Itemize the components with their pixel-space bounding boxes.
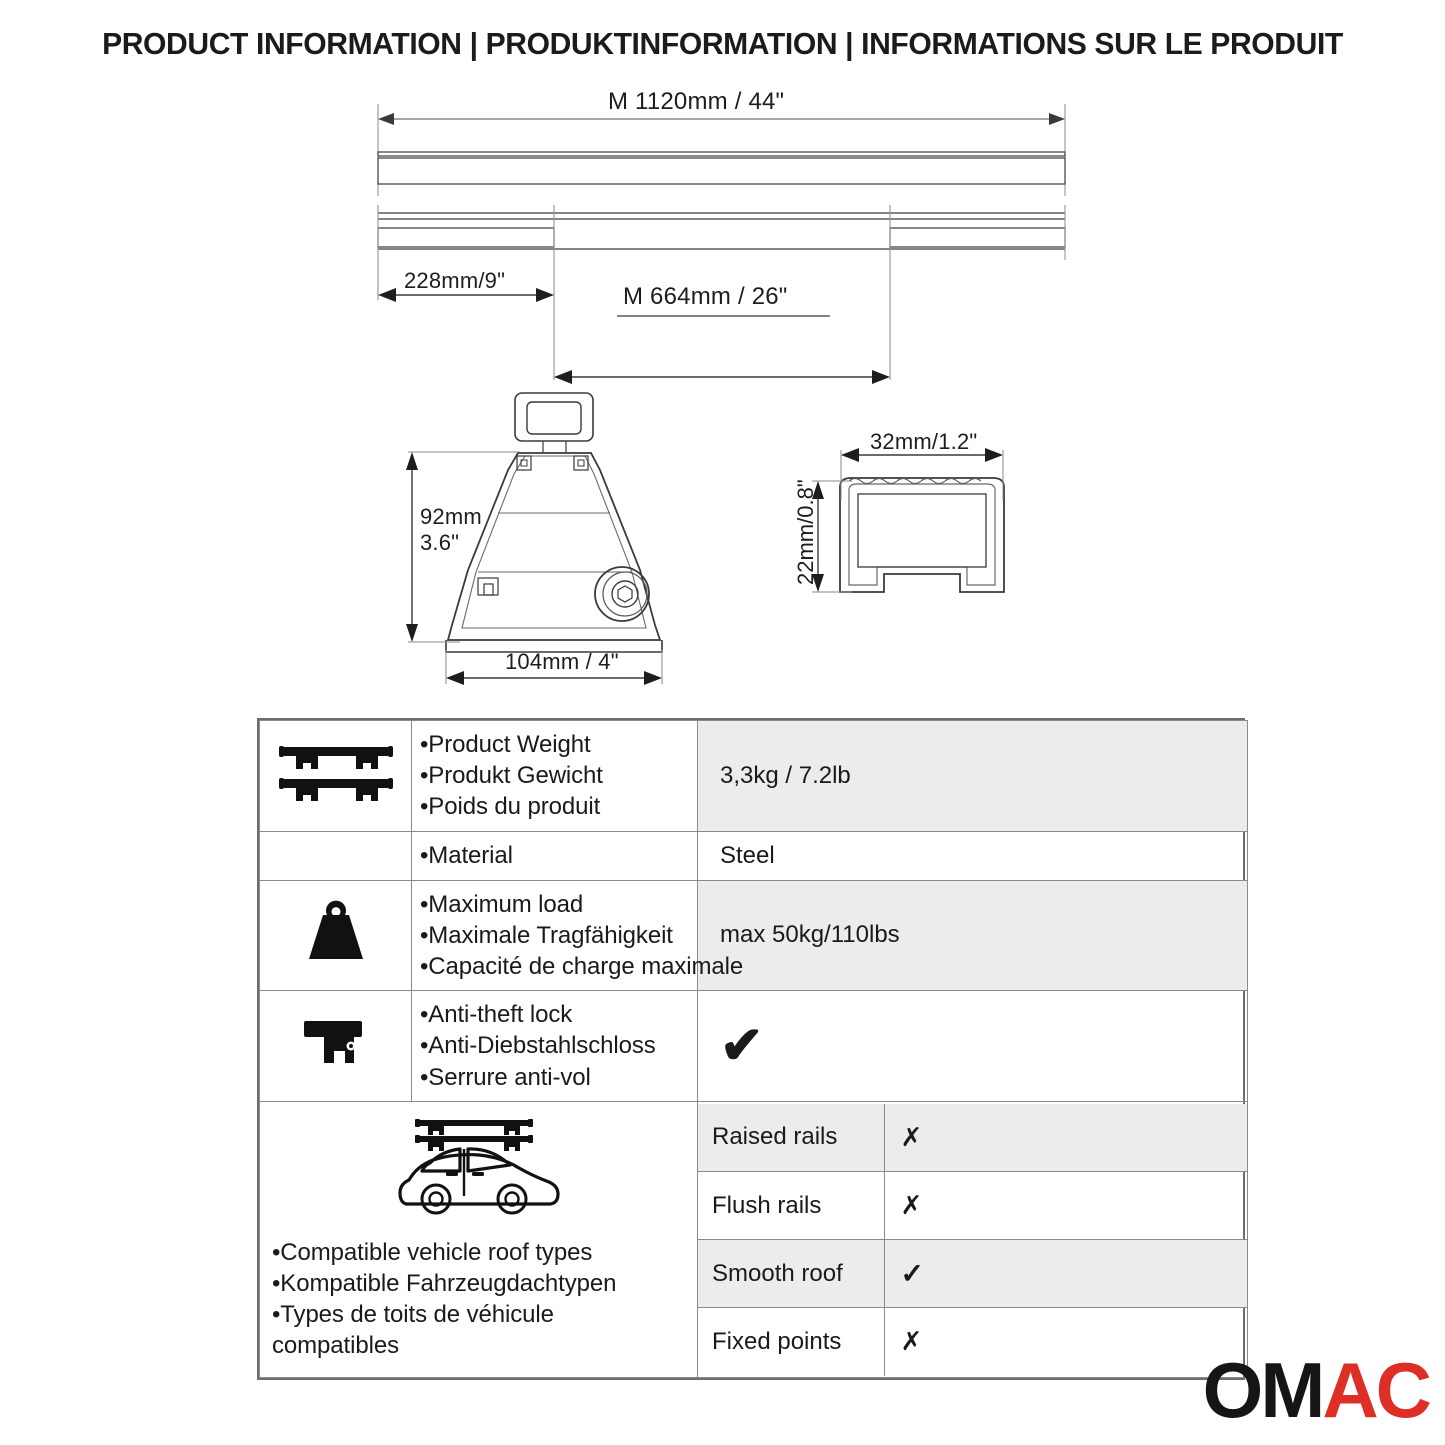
crossbars-icon — [276, 741, 396, 803]
label-line: •Compatible vehicle roof types — [272, 1237, 687, 1268]
crossbars-icon-cell — [260, 721, 412, 832]
compat-option-mark: ✗ — [884, 1308, 1248, 1376]
label-line: •Anti-theft lock — [420, 999, 693, 1030]
material-icon-cell — [260, 831, 412, 880]
compat-option-row: Smooth roof ✓ — [698, 1240, 1248, 1308]
compat-option-name: Raised rails — [698, 1104, 884, 1172]
logo-text-dark: OM — [1203, 1346, 1323, 1434]
material-labels: •Material — [412, 831, 698, 880]
car-icon-wrapper — [260, 1102, 697, 1231]
material-value: Steel — [698, 831, 1248, 880]
check-icon: ✓ — [901, 1258, 924, 1289]
lock-icon — [296, 1013, 376, 1071]
label-line: •Poids du produit — [420, 791, 693, 822]
table-row-compatibility: •Compatible vehicle roof types •Kompatib… — [260, 1101, 1248, 1378]
label-line: •Product Weight — [420, 729, 693, 760]
compat-option-mark: ✗ — [884, 1172, 1248, 1240]
compat-option-name: Flush rails — [698, 1172, 884, 1240]
drawing-svg — [0, 0, 1445, 710]
max-load-labels: •Maximum load •Maximale Tragfähigkeit •C… — [412, 880, 698, 991]
compat-option-row: Raised rails ✗ — [698, 1104, 1248, 1172]
label-line: •Kompatible Fahrzeugdachtypen — [272, 1268, 687, 1299]
specification-table: •Product Weight •Produkt Gewicht •Poids … — [257, 718, 1245, 1380]
anti-theft-value: ✔ — [698, 991, 1248, 1102]
label-line: •Maximum load — [420, 889, 693, 920]
cross-icon: ✗ — [901, 1123, 923, 1153]
compat-option-row: Flush rails ✗ — [698, 1172, 1248, 1240]
compat-option-row: Fixed points ✗ — [698, 1308, 1248, 1376]
weight-icon — [297, 895, 375, 969]
logo-text-red: AC — [1322, 1346, 1429, 1434]
label-line: •Produkt Gewicht — [420, 760, 693, 791]
label-line: •Serrure anti-vol — [420, 1062, 693, 1093]
max-load-value: max 50kg/110lbs — [698, 880, 1248, 991]
table-row: •Maximum load •Maximale Tragfähigkeit •C… — [260, 880, 1248, 991]
product-weight-labels: •Product Weight •Produkt Gewicht •Poids … — [412, 721, 698, 832]
label-line: •Material — [420, 840, 693, 871]
check-icon: ✔ — [720, 1017, 764, 1075]
compat-option-name: Fixed points — [698, 1308, 884, 1376]
anti-theft-labels: •Anti-theft lock •Anti-Diebstahlschloss … — [412, 991, 698, 1102]
lock-icon-cell — [260, 991, 412, 1102]
table-row: •Anti-theft lock •Anti-Diebstahlschloss … — [260, 991, 1248, 1102]
table-row: •Product Weight •Produkt Gewicht •Poids … — [260, 721, 1248, 832]
compat-option-mark: ✗ — [884, 1104, 1248, 1172]
table-row: •Material Steel — [260, 831, 1248, 880]
cross-icon: ✗ — [901, 1191, 923, 1221]
label-line: •Types de toits de véhicule compatibles — [272, 1299, 687, 1361]
car-with-roofbars-icon — [384, 1116, 574, 1224]
weight-icon-cell — [260, 880, 412, 991]
label-line: •Capacité de charge maximale — [420, 951, 693, 982]
compat-option-name: Smooth roof — [698, 1240, 884, 1308]
compatibility-description: •Compatible vehicle roof types •Kompatib… — [260, 1101, 698, 1378]
product-weight-value: 3,3kg / 7.2lb — [698, 721, 1248, 832]
omac-logo: OMAC — [1203, 1351, 1429, 1429]
cross-icon: ✗ — [901, 1327, 923, 1357]
compatibility-options: Raised rails ✗ Flush rails ✗ Smooth roof — [698, 1101, 1248, 1378]
compat-option-mark: ✓ — [884, 1240, 1248, 1308]
label-line: •Anti-Diebstahlschloss — [420, 1030, 693, 1061]
label-line: •Maximale Tragfähigkeit — [420, 920, 693, 951]
technical-drawing: M 1120mm / 44" 228mm/9" M 664mm / 26" 92… — [0, 0, 1445, 710]
